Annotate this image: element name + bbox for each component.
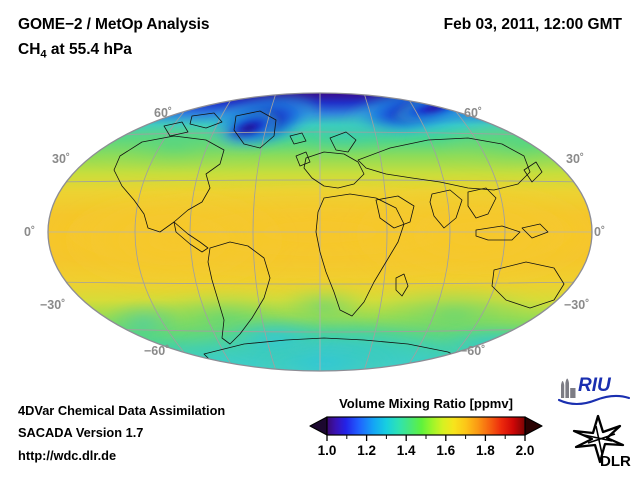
colorbar-tick-6: 2.0: [516, 443, 535, 458]
world-map: 60˚ 30˚ 0˚ −30˚ −60˚ 60˚ 30˚ 0˚ −30˚ −60…: [24, 82, 616, 382]
lat-label-right-0: 0˚: [594, 225, 605, 239]
timestamp-label: Feb 03, 2011, 12:00 GMT: [444, 16, 622, 34]
riu-logo: RIU: [556, 372, 632, 412]
colorbar-tick-3: 1.4: [397, 443, 416, 458]
lat-label-right-30: 30˚: [566, 152, 584, 166]
colorbar-tick-4: 1.6: [436, 443, 455, 458]
footer-line-1: 4DVar Chemical Data Assimilation: [18, 403, 225, 418]
wave-icon: [559, 396, 629, 404]
footer-line-2: SACADA Version 1.7: [18, 425, 143, 440]
lat-label-left-m60: −60˚: [144, 344, 169, 358]
colorbar-title: Volume Mixing Ratio [ppmv]: [305, 396, 547, 411]
colorbar-minor-ticks: [347, 435, 505, 439]
colorbar-cap-low: [310, 417, 327, 435]
riu-wordmark: RIU: [578, 375, 612, 396]
map-svg: [24, 82, 616, 382]
colorbar-tick-1: 1.0: [318, 443, 337, 458]
page-title: GOME−2 / MetOp Analysis: [18, 16, 209, 34]
dlr-wordmark: DLR: [600, 453, 631, 468]
dlr-logo: DLR: [562, 414, 636, 468]
species-label: CH: [18, 41, 40, 58]
colorbar-tick-2: 1.2: [357, 443, 376, 458]
lat-label-left-m30: −30˚: [40, 298, 65, 312]
figure-canvas: GOME−2 / MetOp Analysis CH4 at 55.4 hPa …: [0, 0, 640, 480]
lat-label-right-m30: −30˚: [564, 298, 589, 312]
cathedral-icon: [561, 379, 576, 399]
colorbar: Volume Mixing Ratio [ppmv]: [305, 396, 547, 472]
lat-label-left-60: 60˚: [154, 106, 172, 120]
footer-line-3: http://wdc.dlr.de: [18, 448, 116, 463]
lat-label-left-0: 0˚: [24, 225, 35, 239]
colorbar-tick-5: 1.8: [476, 443, 495, 458]
colorbar-svg: [305, 416, 547, 444]
lat-label-left-30: 30˚: [52, 152, 70, 166]
colorbar-gradient: [327, 417, 525, 435]
colorbar-cap-high: [525, 417, 542, 435]
colorbar-tick-labels: 1.0 1.2 1.4 1.6 1.8 2.0: [305, 443, 547, 463]
pressure-level-label: at 55.4 hPa: [47, 41, 132, 58]
lat-label-right-m60: −60˚: [460, 344, 485, 358]
lat-label-right-60: 60˚: [464, 106, 482, 120]
species-subtitle: CH4 at 55.4 hPa: [18, 41, 132, 61]
